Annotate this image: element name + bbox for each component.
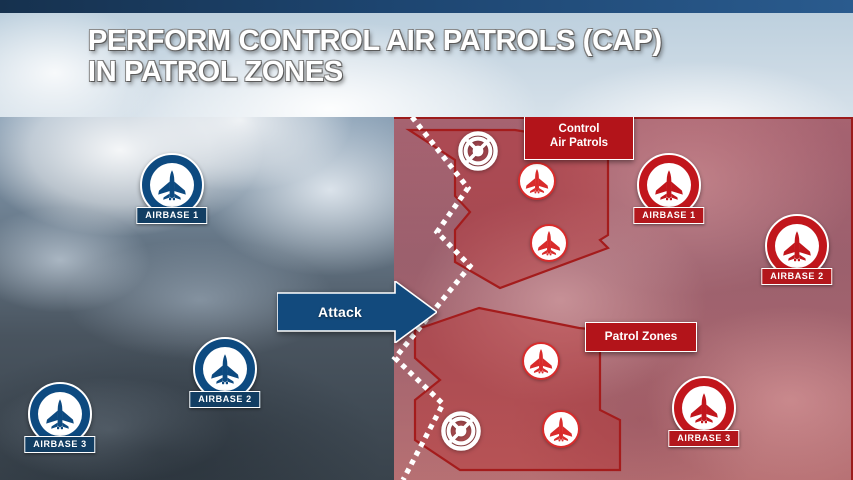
friendly-airbase-3-label: AIRBASE 3 [24,436,95,453]
friendly-airbase-3[interactable]: AIRBASE 3 [28,382,92,446]
enemy-airbase-1[interactable]: AIRBASE 1 [637,153,701,217]
enemy-airbase-2[interactable]: AIRBASE 2 [765,214,829,278]
callout-cap-line1: Control [531,122,627,136]
friendly-airbase-1-label: AIRBASE 1 [136,207,207,224]
attack-arrow[interactable]: Attack [277,281,437,343]
top-accent-bar [0,0,853,13]
fighter-jet-icon [653,169,685,201]
patrol-jet-1[interactable] [518,162,556,200]
airbase-inner-disc [775,224,819,268]
fighter-jet-icon [528,348,554,374]
fighter-jet-icon [209,353,241,385]
enemy-airbase-2-label: AIRBASE 2 [761,268,832,285]
radar-target-icon-south[interactable] [441,411,481,451]
enemy-airbase-1-label: AIRBASE 1 [633,207,704,224]
fighter-jet-icon [548,416,574,442]
callout-control-air-patrols[interactable]: Control Air Patrols [524,114,634,160]
airbase-inner-disc [150,163,194,207]
fighter-jet-icon [156,169,188,201]
friendly-airbase-2-label: AIRBASE 2 [189,391,260,408]
airbase-inner-disc [682,386,726,430]
friendly-airbase-2[interactable]: AIRBASE 2 [193,337,257,401]
fighter-jet-icon [781,230,813,262]
airbase-inner-disc [38,392,82,436]
fighter-jet-icon [524,168,550,194]
radar-target-icon-north[interactable] [458,131,498,171]
page-title: PERFORM CONTROL AIR PATROLS (CAP) IN PAT… [88,26,828,89]
patrol-jet-3[interactable] [522,342,560,380]
page-title-line-2: IN PATROL ZONES [88,57,828,88]
airbase-inner-disc [203,347,247,391]
enemy-airbase-3[interactable]: AIRBASE 3 [672,376,736,440]
patrol-jet-2[interactable] [530,224,568,262]
airbase-inner-disc [647,163,691,207]
friendly-airbase-1[interactable]: AIRBASE 1 [140,153,204,217]
fighter-jet-icon [688,392,720,424]
callout-patrol-zones[interactable]: Patrol Zones [585,322,697,352]
enemy-airbase-3-label: AIRBASE 3 [668,430,739,447]
slide-canvas: Attack [0,0,853,480]
callout-cap-line2: Air Patrols [531,136,627,150]
fighter-jet-icon [44,398,76,430]
callout-zones-line1: Patrol Zones [592,329,690,344]
patrol-jet-4[interactable] [542,410,580,448]
attack-arrow-label: Attack [277,281,403,343]
page-title-line-1: PERFORM CONTROL AIR PATROLS (CAP) [88,26,828,57]
fighter-jet-icon [536,230,562,256]
